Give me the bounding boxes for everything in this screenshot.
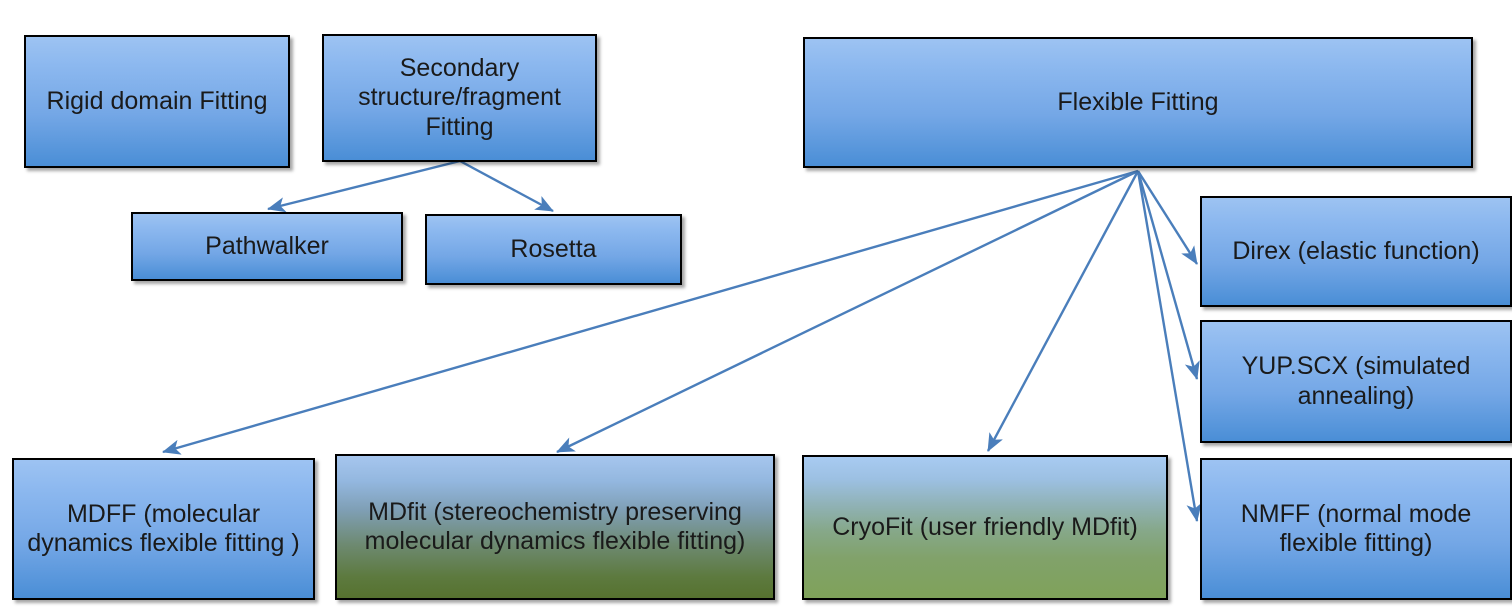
edge-secondary-to-rosetta	[460, 161, 553, 211]
node-secondary-structure-fitting[interactable]: Secondary structure/fragment Fitting	[322, 34, 597, 162]
node-mdfit[interactable]: MDfit (stereochemistry preserving molecu…	[335, 454, 775, 600]
node-label: Direx (elastic function)	[1202, 237, 1510, 266]
edge-flexible-to-direx	[1138, 171, 1197, 264]
edge-flexible-to-yupscx	[1138, 171, 1197, 379]
edge-flexible-to-cryofit	[988, 171, 1138, 451]
node-direx[interactable]: Direx (elastic function)	[1200, 196, 1512, 307]
node-label: YUP.SCX (simulated annealing)	[1202, 352, 1510, 411]
node-rosetta[interactable]: Rosetta	[425, 214, 682, 285]
node-label: MDFF (molecular dynamics flexible fittin…	[14, 500, 313, 559]
node-label: Rosetta	[427, 235, 680, 264]
node-label: Flexible Fitting	[805, 88, 1471, 117]
node-label: Secondary structure/fragment Fitting	[324, 54, 595, 142]
flowchart-canvas: Rigid domain Fitting Secondary structure…	[0, 0, 1512, 610]
node-flexible-fitting[interactable]: Flexible Fitting	[803, 37, 1473, 168]
node-label: NMFF (normal mode flexible fitting)	[1202, 500, 1510, 559]
edge-secondary-to-pathwalker	[268, 161, 460, 209]
node-rigid-domain-fitting[interactable]: Rigid domain Fitting	[24, 35, 290, 168]
node-label: CryoFit (user friendly MDfit)	[804, 513, 1166, 542]
node-label: Pathwalker	[133, 232, 401, 261]
node-mdff[interactable]: MDFF (molecular dynamics flexible fittin…	[12, 458, 315, 600]
node-yup-scx[interactable]: YUP.SCX (simulated annealing)	[1200, 320, 1512, 443]
node-pathwalker[interactable]: Pathwalker	[131, 212, 403, 281]
node-cryofit[interactable]: CryoFit (user friendly MDfit)	[802, 455, 1168, 600]
node-nmff[interactable]: NMFF (normal mode flexible fitting)	[1200, 458, 1512, 600]
node-label: MDfit (stereochemistry preserving molecu…	[337, 498, 773, 557]
node-label: Rigid domain Fitting	[26, 87, 288, 116]
